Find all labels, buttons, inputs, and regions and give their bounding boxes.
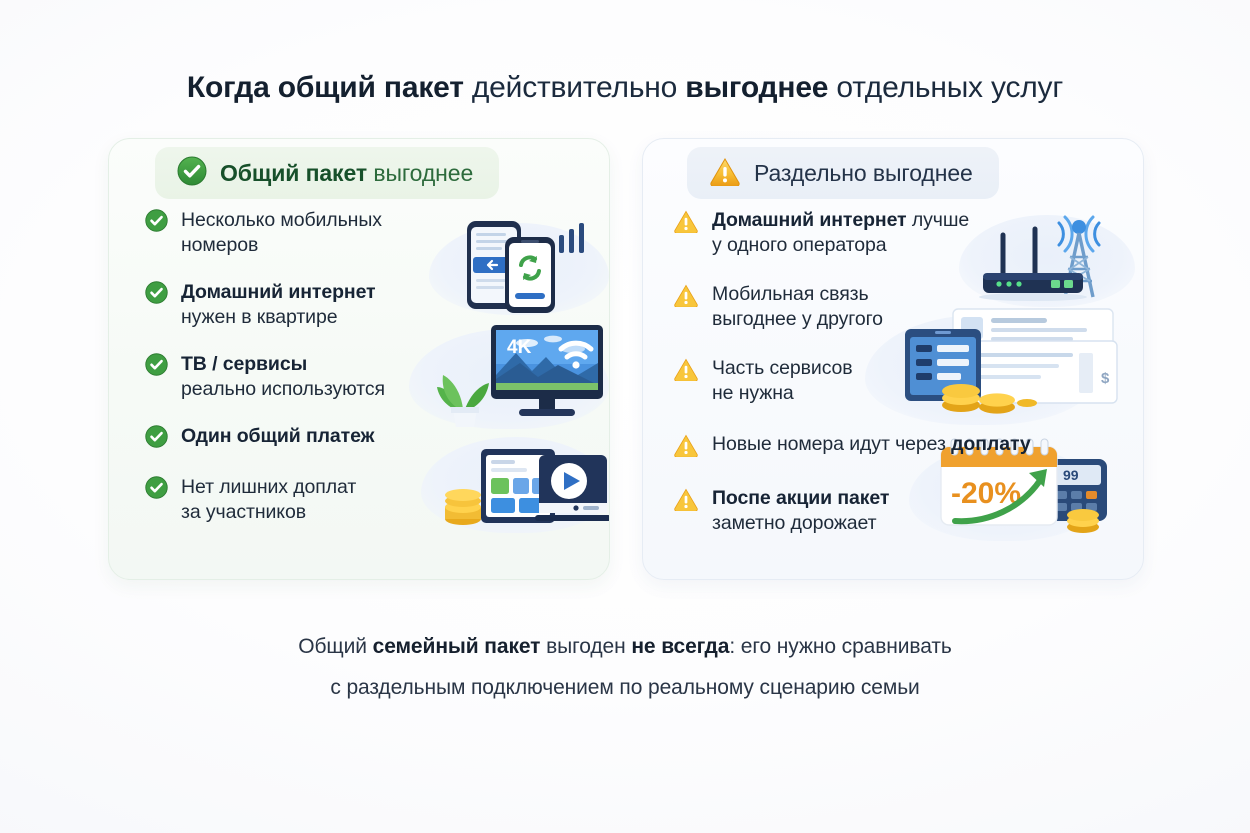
card-good-header: Общий пакет выгоднее (155, 147, 499, 199)
list-item: Несколько мобильных номеров (145, 208, 591, 258)
list-item-line1-rest: лучше (907, 209, 970, 231)
list-item-text: Часть сервисов не нужна (712, 356, 853, 406)
card-separate-better: $ (642, 138, 1144, 580)
list-item-line1: ТВ / сервисы (181, 353, 307, 375)
footer-text-a: Общий (298, 635, 372, 658)
list-item-line1-rest: Мобильная связь (712, 283, 869, 305)
list-item-text: Домашний интернет нужен в квартире (181, 280, 376, 330)
list-item-text: Мобильная связь выгоднее у другого (712, 282, 883, 332)
list-item-line1: Домашний интернет (181, 281, 376, 303)
list-item: Домашний интернет лучше у одного операто… (673, 208, 1125, 258)
list-item: ТВ / сервисы реально используются (145, 352, 591, 402)
page-title-plain-2: отдельных услуг (828, 71, 1063, 104)
page-title-bold-2: выгоднее (685, 71, 828, 104)
infographic-root: Когда общий пакет действительно выгоднее… (0, 0, 1250, 833)
warning-triangle-icon (673, 283, 699, 312)
list-item: Мобильная связь выгоднее у другого (673, 282, 1125, 332)
check-circle-icon (145, 209, 168, 237)
card-bad-list: Домашний интернет лучше у одного операто… (643, 205, 1143, 536)
list-item-line1-bold-tail: доплату (951, 433, 1030, 455)
list-item: Нет лишних доплат за участников (145, 475, 591, 525)
list-item: Один общий платеж (145, 424, 591, 453)
list-item-text: Нет лишних доплат за участников (181, 475, 356, 525)
list-item-line2: выгоднее у другого (712, 307, 883, 332)
footer-text-c: выгоден (540, 635, 631, 658)
page-title-plain-1: действительно (464, 71, 686, 104)
list-item-line1-bold: Домашний интернет (712, 209, 907, 231)
list-item-line1: Один общий платеж (181, 425, 374, 447)
warning-triangle-icon (673, 433, 699, 462)
page-title-bold-1: Когда общий пакет (187, 71, 464, 104)
list-item-line2: за участников (181, 500, 356, 525)
footer-line-2: с раздельным подключением по реальному с… (0, 667, 1250, 708)
list-item-text: Домашний интернет лучше у одного операто… (712, 208, 969, 258)
footer-line-1: Общий семейный пакет выгоден не всегда: … (0, 626, 1250, 667)
list-item-line2: у одного оператора (712, 233, 969, 258)
list-item: Новые номера идут через доплату (673, 432, 1125, 462)
check-circle-icon (145, 476, 168, 504)
card-good-header-rest: выгоднее (367, 160, 473, 186)
list-item-line1: Несколько мобильных (181, 209, 382, 231)
list-item-line2: нужен в квартире (181, 305, 376, 330)
warning-triangle-icon (673, 209, 699, 238)
footer-bold-1: семейный пакет (373, 635, 541, 658)
check-circle-icon (145, 353, 168, 381)
list-item-text: Поспе акции пакет заметно дорожает (712, 486, 889, 536)
check-circle-icon (177, 156, 207, 191)
list-item: Поспе акции пакет заметно дорожает (673, 486, 1125, 536)
list-item-line2: не нужна (712, 381, 853, 406)
list-item-text: Новые номера идут через доплату (712, 432, 1031, 457)
check-circle-icon (145, 425, 168, 453)
footer-bold-2: не всегда (631, 635, 729, 658)
list-item: Часть сервисов не нужна (673, 356, 1125, 406)
card-package-better: 4K (108, 138, 610, 580)
list-item-line2: заметно дорожает (712, 511, 889, 536)
card-good-list: Несколько мобильных номеров Домашний инт… (109, 205, 609, 525)
card-good-header-text: Общий пакет выгоднее (220, 160, 473, 186)
comparison-cards: 4K (108, 138, 1144, 580)
warning-triangle-icon (673, 357, 699, 386)
list-item-text: Несколько мобильных номеров (181, 208, 382, 258)
list-item-line2: номеров (181, 233, 382, 258)
list-item-text: ТВ / сервисы реально используются (181, 352, 385, 402)
list-item-line1: Нет лишних доплат (181, 476, 356, 498)
warning-triangle-icon (673, 487, 699, 516)
card-good-header-bold: Общий пакет (220, 160, 367, 186)
list-item-line1-rest: Часть сервисов (712, 357, 853, 379)
list-item-line2: реально используются (181, 377, 385, 402)
list-item-line1-bold: Поспе акции пакет (712, 487, 889, 509)
list-item-line1-rest: Новые номера идут через (712, 433, 951, 455)
check-circle-icon (145, 281, 168, 309)
card-bad-header-text: Раздельно выгоднее (754, 160, 973, 186)
warning-triangle-icon (709, 156, 741, 191)
list-item: Домашний интернет нужен в квартире (145, 280, 591, 330)
footer-note: Общий семейный пакет выгоден не всегда: … (0, 626, 1250, 708)
card-bad-header: Раздельно выгоднее (687, 147, 999, 199)
footer-text-e: : его нужно сравнивать (729, 635, 951, 658)
page-title: Когда общий пакет действительно выгоднее… (0, 68, 1250, 108)
list-item-text: Один общий платеж (181, 424, 374, 449)
